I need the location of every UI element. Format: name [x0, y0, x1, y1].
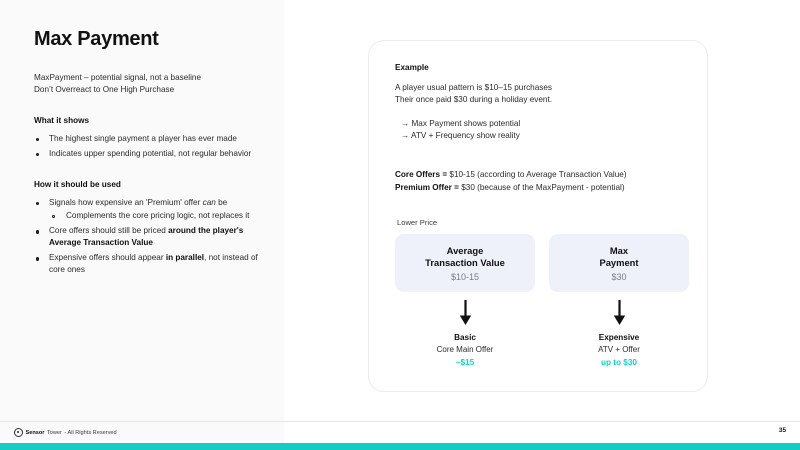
example-card: Example A player usual pattern is $10–15…	[368, 40, 708, 392]
list-item: Indicates upper spending potential, not …	[34, 148, 262, 160]
list-item: Complements the core pricing logic, not …	[49, 210, 262, 222]
core-offers-row: Core Offers = $10-15 (according to Avera…	[395, 169, 681, 182]
copyright-text: - All Rights Reserved	[64, 430, 116, 436]
box-title-line-1: Max	[599, 245, 638, 257]
box-title-line-2: Transaction Value	[425, 257, 505, 269]
result-subtitle: ATV + Offer	[598, 345, 640, 354]
down-arrow-icon	[613, 300, 626, 326]
box-value: $30	[611, 272, 626, 282]
sub-bullet-list: Complements the core pricing logic, not …	[49, 210, 262, 222]
premium-offer-value: $30 (because of the MaxPayment - potenti…	[459, 183, 625, 192]
result-accent-price: up to $30	[601, 358, 637, 367]
result-title: Basic	[454, 333, 476, 342]
list-item: The highest single payment a player has …	[34, 133, 262, 145]
bullet-list-what-it-shows: The highest single payment a player has …	[34, 133, 262, 160]
offers-summary: Core Offers = $10-15 (according to Avera…	[395, 169, 681, 194]
premium-offer-label: Premium Offer =	[395, 183, 459, 192]
section-heading-what-it-shows: What it shows	[34, 116, 262, 125]
footer-brand: SensorTower - All Rights Reserved	[14, 428, 117, 437]
column-average-transaction-value: Average Transaction Value $10-15 Basic C…	[395, 234, 535, 367]
box-title: Max Payment	[599, 245, 638, 269]
bullet-list-how-it-should-be-used: Signals how expensive an 'Premium' offer…	[34, 197, 262, 276]
brand-name-secondary: Tower	[47, 430, 62, 436]
list-item: Signals how expensive an 'Premium' offer…	[34, 197, 262, 223]
page-title: Max Payment	[34, 28, 262, 50]
example-line-1: A player usual pattern is $10–15 purchas…	[395, 82, 681, 94]
lower-price-label: Lower Price	[397, 218, 681, 227]
brand-name-primary: Sensor	[26, 430, 45, 436]
example-heading: Example	[395, 63, 681, 72]
bullet-text-italic: can	[203, 198, 216, 207]
page-number: 35	[779, 427, 786, 434]
arrow-line-max-payment: → Max Payment shows potential	[401, 118, 681, 131]
box-title-line-1: Average	[425, 245, 505, 257]
result-subtitle: Core Main Offer	[437, 345, 494, 354]
box-average-transaction-value: Average Transaction Value $10-15	[395, 234, 535, 292]
slide-root: Max Payment MaxPayment – potential signa…	[0, 0, 800, 450]
footer: SensorTower - All Rights Reserved 35	[0, 422, 800, 443]
box-value: $10-15	[451, 272, 479, 282]
subtitle-line-2: Don’t Overreact to One High Purchase	[34, 84, 262, 96]
premium-offer-row: Premium Offer = $30 (because of the MaxP…	[395, 182, 681, 195]
result-accent-price: ~$15	[456, 358, 474, 367]
box-title: Average Transaction Value	[425, 245, 505, 269]
column-max-payment: Max Payment $30 Expensive ATV + Offer up…	[549, 234, 689, 367]
down-arrow-icon	[459, 300, 472, 326]
example-arrow-lines: → Max Payment shows potential → ATV + Fr…	[401, 118, 681, 143]
list-item: Core offers should still be priced aroun…	[34, 225, 262, 249]
comparison-columns: Average Transaction Value $10-15 Basic C…	[395, 234, 681, 367]
bullet-text-bold: in parallel	[166, 253, 204, 262]
bullet-text-plain: Expensive offers should appear	[49, 253, 166, 262]
bottom-accent-bar	[0, 443, 800, 450]
result-title: Expensive	[599, 333, 640, 342]
core-offers-label: Core Offers =	[395, 170, 447, 179]
list-item: Expensive offers should appear in parall…	[34, 252, 262, 276]
subtitle-line-1: MaxPayment – potential signal, not a bas…	[34, 72, 262, 84]
bullet-text-plain: Signals how expensive an 'Premium' offer	[49, 198, 203, 207]
arrow-line-atv-frequency: → ATV + Frequency show reality	[401, 130, 681, 143]
sensor-tower-logo-icon	[14, 428, 23, 437]
section-heading-how-it-should-be-used: How it should be used	[34, 180, 262, 189]
box-title-line-2: Payment	[599, 257, 638, 269]
left-content-pane: Max Payment MaxPayment – potential signa…	[0, 0, 284, 422]
bullet-text-plain: Core offers should still be priced	[49, 226, 168, 235]
core-offers-value: $10-15 (according to Average Transaction…	[447, 170, 626, 179]
box-max-payment: Max Payment $30	[549, 234, 689, 292]
bullet-text-tail: be	[216, 198, 227, 207]
example-line-2: Their once paid $30 during a holiday eve…	[395, 94, 681, 106]
